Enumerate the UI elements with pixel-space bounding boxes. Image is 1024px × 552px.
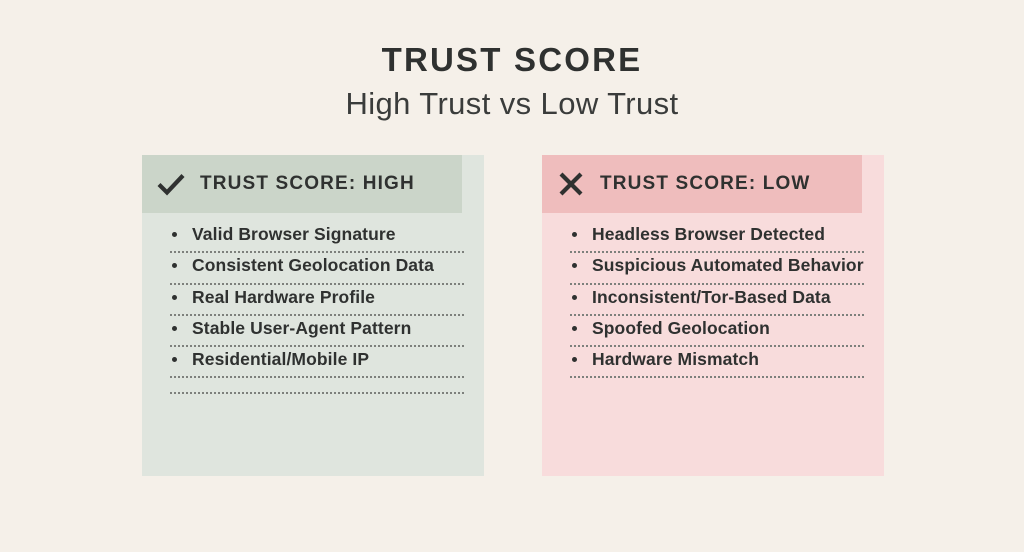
list-item: Hardware Mismatch [570,347,864,378]
list-item: Real Hardware Profile [170,285,464,316]
comparison-cards: TRUST SCORE: HIGH Valid Browser Signatur… [0,155,1024,485]
trust-card-high-header: TRUST SCORE: HIGH [142,155,462,213]
trust-card-low-list: Headless Browser Detected Suspicious Aut… [542,213,884,378]
trust-card-high: TRUST SCORE: HIGH Valid Browser Signatur… [142,155,484,476]
trust-card-high-title: TRUST SCORE: HIGH [200,173,415,195]
check-icon [156,169,186,199]
cross-icon [556,169,586,199]
list-item: Suspicious Automated Behavior [570,253,864,284]
list-item: Residential/Mobile IP [170,347,464,378]
list-trailing-divider [170,378,464,394]
list-item: Stable User-Agent Pattern [170,316,464,347]
list-item: Consistent Geolocation Data [170,253,464,284]
trust-card-low-title: TRUST SCORE: LOW [600,173,811,195]
page-title: TRUST SCORE [0,0,1024,78]
trust-card-low-header: TRUST SCORE: LOW [542,155,862,213]
list-item: Headless Browser Detected [570,222,864,253]
trust-card-low: TRUST SCORE: LOW Headless Browser Detect… [542,155,884,476]
list-item: Spoofed Geolocation [570,316,864,347]
trust-card-high-list: Valid Browser Signature Consistent Geolo… [142,213,484,394]
page-header: TRUST SCORE High Trust vs Low Trust [0,0,1024,121]
page-subtitle: High Trust vs Low Trust [0,78,1024,121]
list-item: Inconsistent/Tor-Based Data [570,285,864,316]
list-item: Valid Browser Signature [170,222,464,253]
